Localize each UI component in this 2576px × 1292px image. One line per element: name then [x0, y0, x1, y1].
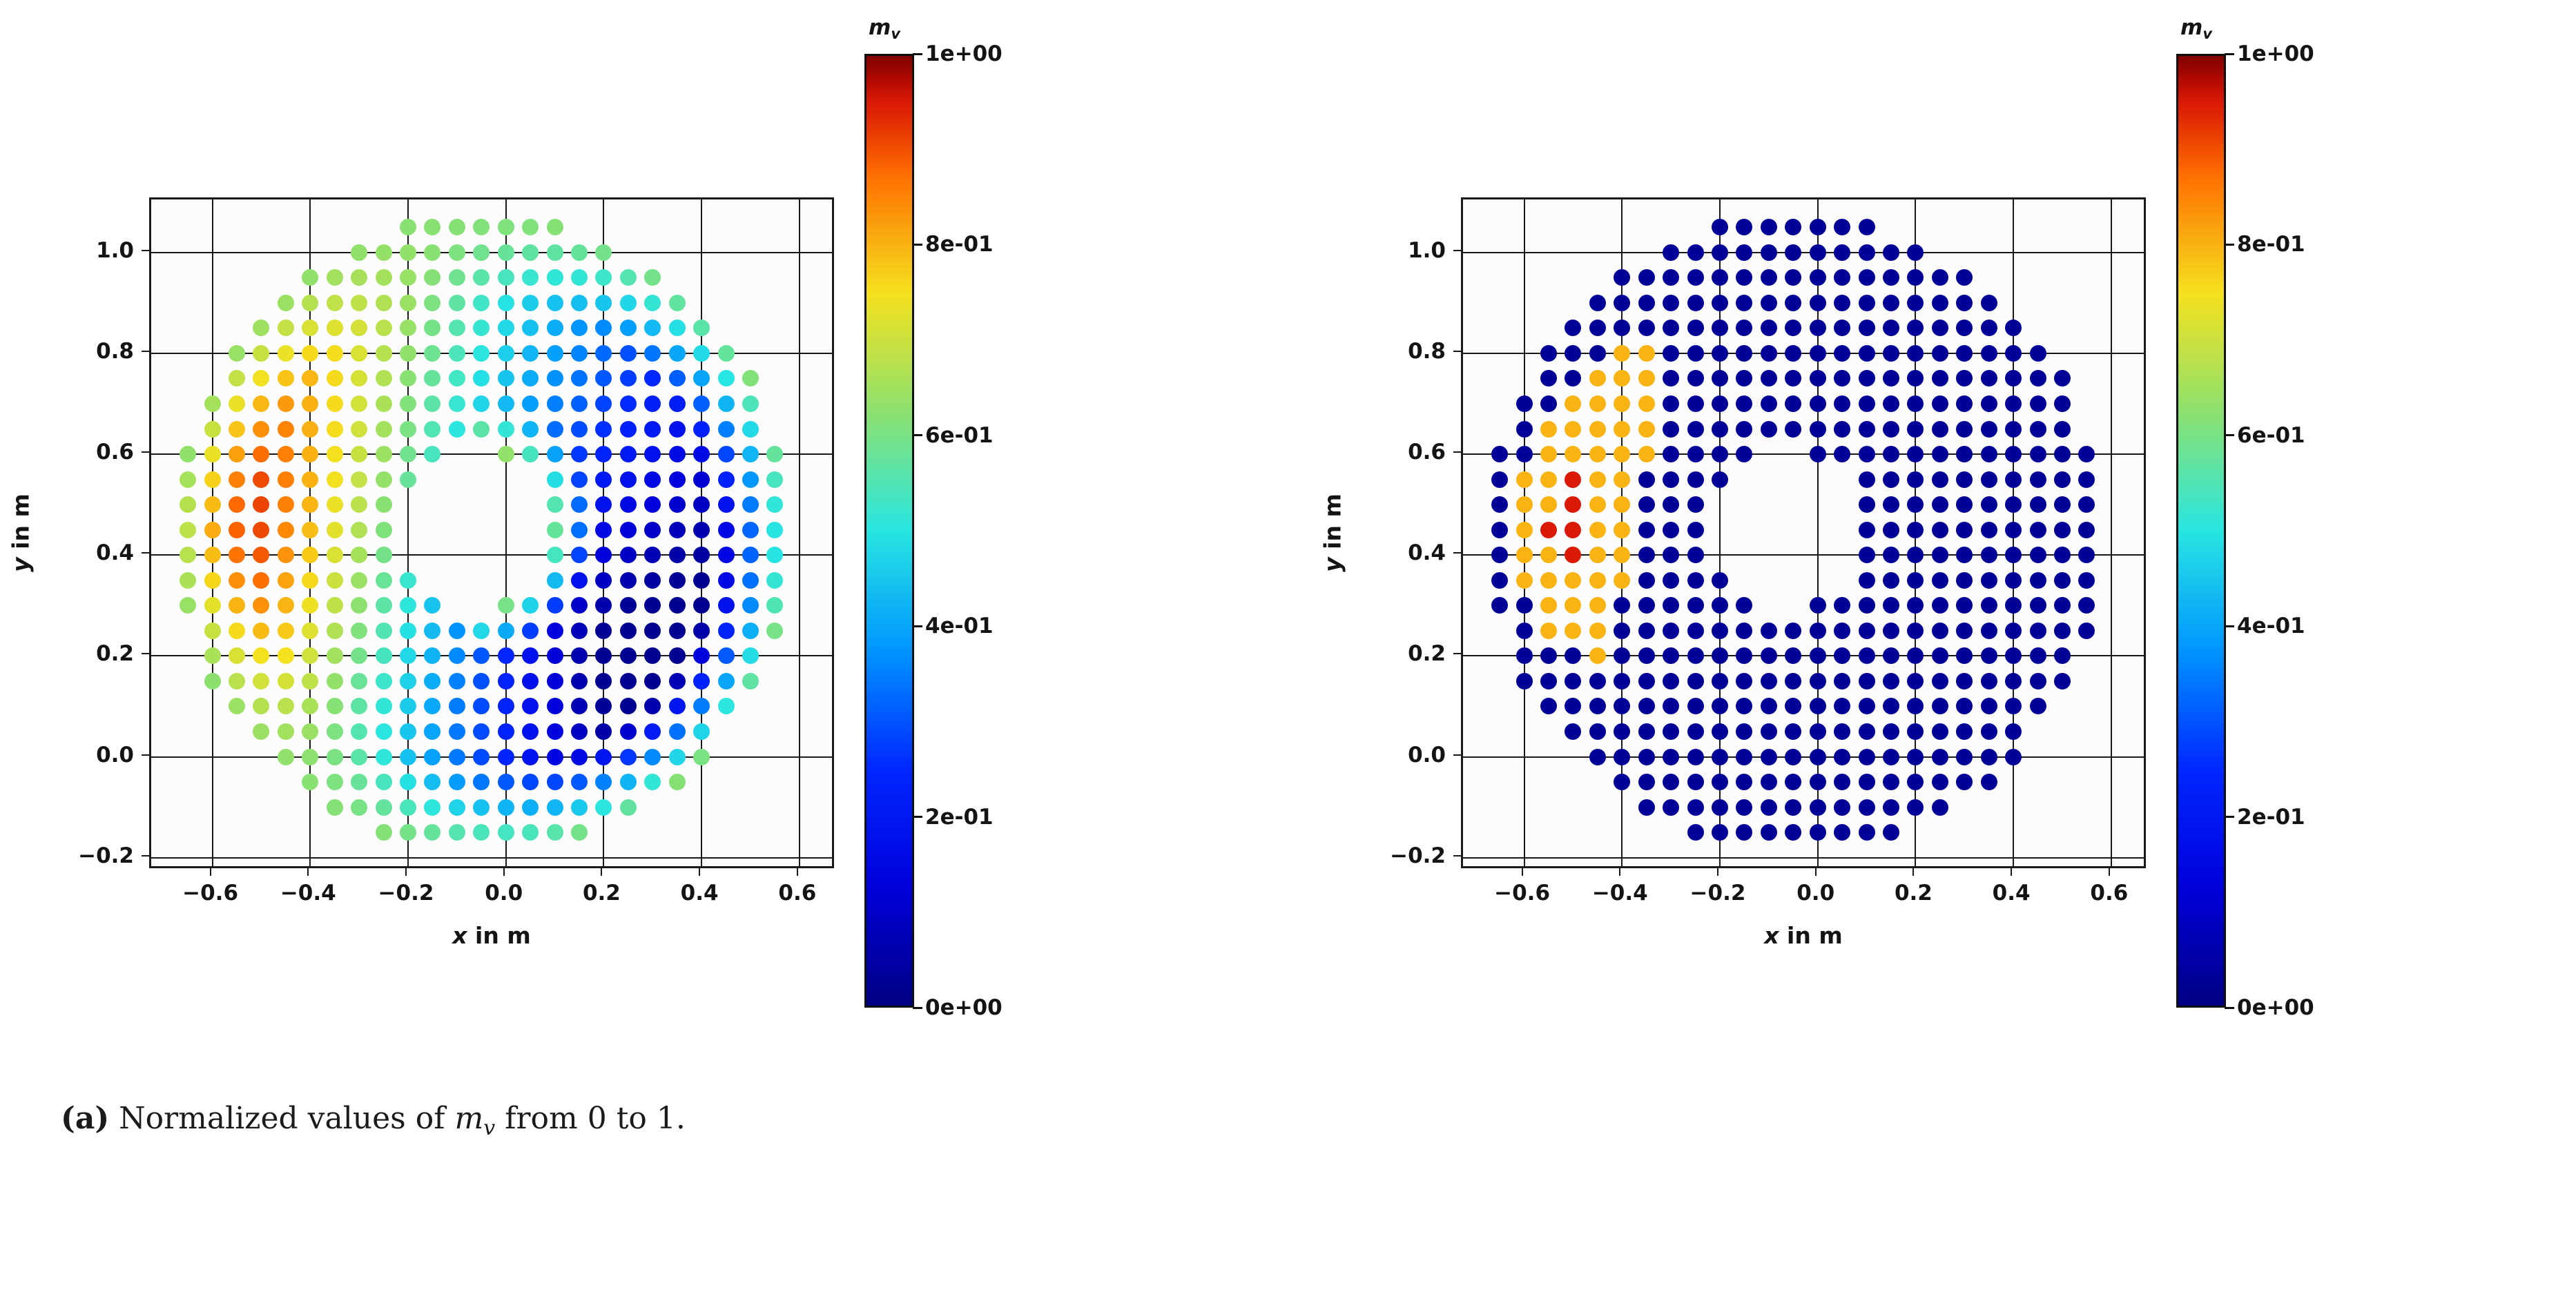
scatter-point [1956, 295, 1973, 311]
scatter-point [376, 496, 392, 513]
scatter-point [571, 774, 588, 790]
scatter-point [1638, 370, 1655, 386]
scatter-point [1687, 597, 1704, 614]
scatter-point [1981, 723, 1997, 740]
colorbar-tick-label: 0e+00 [2237, 995, 2314, 1020]
scatter-point [1981, 370, 1997, 386]
scatter-point [424, 370, 440, 386]
scatter-point [1663, 395, 1679, 412]
scatter-point [1565, 698, 1581, 714]
scatter-point [620, 572, 637, 589]
scatter-point [1736, 774, 1752, 790]
scatter-point [327, 647, 343, 664]
scatter-point [1516, 496, 1533, 513]
scatter-point [595, 698, 612, 714]
scatter-point [2005, 446, 2022, 462]
scatter-point [473, 370, 490, 386]
scatter-point [180, 597, 196, 614]
y-tick-label: 0.6 [1364, 440, 1446, 464]
scatter-point [302, 774, 318, 790]
scatter-point [400, 597, 416, 614]
scatter-point [1712, 370, 1728, 386]
scatter-point [1712, 244, 1728, 261]
scatter-point [1663, 723, 1679, 740]
scatter-point [2030, 597, 2046, 614]
scatter-point [669, 572, 686, 589]
scatter-point [400, 269, 416, 286]
scatter-point [2054, 421, 2071, 438]
scatter-point [1712, 345, 1728, 362]
scatter-point [400, 698, 416, 714]
scatter-point [1614, 295, 1630, 311]
scatter-point [1932, 320, 1948, 336]
scatter-point [400, 824, 416, 841]
scatter-point [693, 623, 710, 639]
scatter-point [1712, 698, 1728, 714]
scatter-point [1810, 446, 1826, 462]
scatter-point [2054, 370, 2071, 386]
scatter-point [400, 647, 416, 664]
scatter-point [1638, 421, 1655, 438]
scatter-point [669, 320, 686, 336]
colorbar-title-main-a: m [869, 15, 891, 40]
scatter-point [644, 421, 661, 438]
scatter-point [2054, 395, 2071, 412]
scatter-point [376, 471, 392, 488]
scatter-point [253, 597, 269, 614]
scatter-point [278, 597, 294, 614]
scatter-point [595, 345, 612, 362]
scatter-point [1663, 345, 1679, 362]
scatter-point [2030, 522, 2046, 538]
scatter-point [229, 395, 245, 412]
scatter-point [1883, 421, 1899, 438]
scatter-point [1883, 673, 1899, 689]
scatter-point [644, 345, 661, 362]
scatter-point [278, 647, 294, 664]
figure-root: −0.6−0.4−0.20.00.20.40.61.00.80.60.40.20… [0, 0, 2576, 1292]
scatter-point [2078, 496, 2095, 513]
scatter-point [1614, 395, 1630, 412]
scatter-point [376, 547, 392, 563]
y-tick-label: 0.8 [1364, 339, 1446, 364]
y-tick-mark [142, 552, 149, 554]
scatter-point [571, 547, 588, 563]
scatter-point [1638, 295, 1655, 311]
scatter-point [253, 647, 269, 664]
scatter-point [1712, 269, 1728, 286]
scatter-point [1956, 572, 1973, 589]
scatter-point [229, 698, 245, 714]
scatter-point [742, 547, 759, 563]
scatter-point [1565, 496, 1581, 513]
scatter-point [1956, 370, 1973, 386]
x-tick-label: 0.0 [1797, 881, 1834, 906]
scatter-point [449, 395, 465, 412]
scatter-point [1687, 471, 1704, 488]
scatter-point [547, 320, 563, 336]
scatter-point [571, 295, 588, 311]
scatter-point [302, 623, 318, 639]
scatter-point [718, 370, 735, 386]
scatter-point [327, 345, 343, 362]
colorbar-tick-mark [2225, 434, 2234, 436]
scatter-point [400, 774, 416, 790]
scatter-point [1834, 597, 1850, 614]
scatter-point [449, 421, 465, 438]
scatter-point [644, 774, 661, 790]
scatter-point [449, 623, 465, 639]
scatter-point [1614, 698, 1630, 714]
scatter-point [498, 269, 514, 286]
scatter-point [302, 647, 318, 664]
scatter-point [449, 774, 465, 790]
scatter-point [1589, 345, 1606, 362]
scatter-point [1956, 345, 1973, 362]
scatter-point [595, 320, 612, 336]
scatter-point [571, 623, 588, 639]
scatter-point [351, 597, 367, 614]
scatter-point [620, 522, 637, 538]
scatter-point [1907, 774, 1924, 790]
scatter-point [1565, 522, 1581, 538]
scatter-point [1859, 572, 1875, 589]
scatter-point [718, 471, 735, 488]
scatter-point [1883, 446, 1899, 462]
scatter-point [1907, 623, 1924, 639]
scatter-point [302, 395, 318, 412]
scatter-point [1932, 421, 1948, 438]
caption-a-math-main: m [455, 1101, 484, 1136]
scatter-point [327, 269, 343, 286]
scatter-point [644, 395, 661, 412]
scatter-point [2078, 446, 2095, 462]
scatter-point [1516, 572, 1533, 589]
scatter-point [1614, 597, 1630, 614]
scatter-point [424, 269, 440, 286]
scatter-point [400, 471, 416, 488]
x-axis-label-b: x in m [1764, 922, 1842, 949]
scatter-point [644, 320, 661, 336]
scatter-point [1761, 219, 1777, 235]
scatter-point [376, 269, 392, 286]
scatter-point [742, 471, 759, 488]
colorbar-tick-label: 6e-01 [925, 423, 994, 448]
scatter-point [180, 522, 196, 538]
scatter-point [742, 496, 759, 513]
scatter-point [693, 749, 710, 765]
scatter-point [2054, 547, 2071, 563]
scatter-point [2030, 395, 2046, 412]
scatter-point [327, 522, 343, 538]
scatter-point [1932, 572, 1948, 589]
scatter-point [180, 572, 196, 589]
colorbar-tick-label: 1e+00 [2237, 41, 2314, 66]
scatter-point [1907, 799, 1924, 816]
scatter-point [1981, 295, 1997, 311]
scatter-point [1956, 723, 1973, 740]
scatter-point [620, 547, 637, 563]
scatter-point [302, 269, 318, 286]
scatter-point [1785, 799, 1801, 816]
scatter-point [2078, 597, 2095, 614]
scatter-point [204, 421, 221, 438]
scatter-point [1810, 673, 1826, 689]
scatter-point [1761, 673, 1777, 689]
scatter-point [351, 295, 367, 311]
scatter-point [595, 421, 612, 438]
scatter-point [302, 572, 318, 589]
scatter-point [327, 320, 343, 336]
scatter-point [2078, 572, 2095, 589]
colorbar-tick-mark [2225, 244, 2234, 246]
y-tick-mark [142, 855, 149, 857]
scatter-point [644, 749, 661, 765]
scatter-point [1859, 496, 1875, 513]
scatter-point [1785, 774, 1801, 790]
scatter-point [1589, 496, 1606, 513]
scatter-point [1565, 723, 1581, 740]
scatter-point [204, 471, 221, 488]
scatter-point [1810, 421, 1826, 438]
scatter-point [1687, 395, 1704, 412]
scatter-point [1687, 799, 1704, 816]
scatter-point [2054, 623, 2071, 639]
scatter-point [2030, 673, 2046, 689]
scatter-point [644, 647, 661, 664]
scatter-point [376, 522, 392, 538]
scatter-point [376, 295, 392, 311]
scatter-point [473, 320, 490, 336]
scatter-point [1712, 471, 1728, 488]
scatter-point [620, 395, 637, 412]
scatter-point [229, 647, 245, 664]
scatter-point [204, 572, 221, 589]
scatter-point [1540, 547, 1557, 563]
scatter-point [2054, 496, 2071, 513]
scatter-point [327, 471, 343, 488]
y-gridline [151, 756, 832, 758]
scatter-point [1883, 522, 1899, 538]
scatter-point [498, 623, 514, 639]
scatter-point [547, 219, 563, 235]
scatter-point [669, 496, 686, 513]
scatter-point [1834, 320, 1850, 336]
scatter-point [1932, 749, 1948, 765]
scatter-point [278, 749, 294, 765]
scatter-point [302, 698, 318, 714]
scatter-point [547, 698, 563, 714]
scatter-point [669, 647, 686, 664]
scatter-point [1859, 799, 1875, 816]
scatter-point [718, 547, 735, 563]
scatter-point [1883, 749, 1899, 765]
scatter-point [1859, 547, 1875, 563]
scatter-point [229, 446, 245, 462]
scatter-point [1565, 547, 1581, 563]
scatter-point [620, 623, 637, 639]
x-tick-label: −0.6 [182, 881, 238, 906]
scatter-point [669, 295, 686, 311]
scatter-point [351, 799, 367, 816]
scatter-point [400, 295, 416, 311]
scatter-point [547, 547, 563, 563]
scatter-point [1761, 244, 1777, 261]
scatter-point [1859, 395, 1875, 412]
scatter-point [742, 395, 759, 412]
x-tick-label: 0.4 [681, 881, 719, 906]
scatter-point [376, 824, 392, 841]
scatter-point [669, 471, 686, 488]
scatter-point [1761, 799, 1777, 816]
scatter-point [1565, 345, 1581, 362]
scatter-point [1491, 597, 1508, 614]
scatter-point [278, 421, 294, 438]
scatter-point [1810, 698, 1826, 714]
scatter-point [1712, 219, 1728, 235]
scatter-point [1981, 623, 1997, 639]
scatter-point [424, 799, 440, 816]
scatter-point [1981, 421, 1997, 438]
scatter-point [742, 623, 759, 639]
scatter-point [1932, 774, 1948, 790]
scatter-point [571, 572, 588, 589]
scatter-point [327, 698, 343, 714]
scatter-point [1981, 345, 1997, 362]
scatter-point [1614, 471, 1630, 488]
colorbar-tick-mark [913, 1007, 922, 1009]
caption-a: (a) Normalized values of mv from 0 to 1. [61, 1096, 751, 1144]
scatter-point [1859, 522, 1875, 538]
scatter-point [1810, 269, 1826, 286]
scatter-point [1516, 673, 1533, 689]
x-tick-label: 0.2 [1895, 881, 1933, 906]
scatter-point [644, 698, 661, 714]
scatter-point [1956, 471, 1973, 488]
scatter-point [424, 774, 440, 790]
scatter-point [1712, 395, 1728, 412]
scatter-point [204, 446, 221, 462]
scatter-point [327, 723, 343, 740]
scatter-point [180, 446, 196, 462]
scatter-point [1516, 522, 1533, 538]
scatter-point [547, 269, 563, 286]
scatter-point [1859, 774, 1875, 790]
y-tick-mark [142, 653, 149, 654]
scatter-point [547, 345, 563, 362]
scatter-point [1516, 597, 1533, 614]
scatter-point [1687, 824, 1704, 841]
scatter-point [351, 446, 367, 462]
scatter-point [1663, 320, 1679, 336]
scatter-point [547, 623, 563, 639]
scatter-point [547, 824, 563, 841]
scatter-point [400, 219, 416, 235]
scatter-point [522, 824, 539, 841]
scatter-point [1834, 370, 1850, 386]
scatter-point [253, 320, 269, 336]
y-tick-label: −0.2 [52, 843, 134, 868]
scatter-point [253, 446, 269, 462]
scatter-point [669, 723, 686, 740]
scatter-point [547, 749, 563, 765]
scatter-point [1589, 522, 1606, 538]
scatter-point [669, 698, 686, 714]
scatter-point [376, 774, 392, 790]
scatter-point [229, 572, 245, 589]
scatter-point [302, 723, 318, 740]
scatter-point [1614, 320, 1630, 336]
scatter-point [376, 370, 392, 386]
scatter-point [547, 446, 563, 462]
scatter-point [1932, 547, 1948, 563]
scatter-point [1614, 749, 1630, 765]
scatter-point [327, 547, 343, 563]
scatter-point [1589, 370, 1606, 386]
scatter-point [2005, 421, 2022, 438]
scatter-point [1565, 370, 1581, 386]
scatter-point [644, 295, 661, 311]
y-tick-mark [1453, 653, 1461, 654]
scatter-point [595, 496, 612, 513]
scatter-point [595, 597, 612, 614]
scatter-point [400, 623, 416, 639]
scatter-point [1712, 749, 1728, 765]
scatter-point [1638, 723, 1655, 740]
scatter-point [424, 723, 440, 740]
scatter-point [1859, 471, 1875, 488]
y-gridline [1463, 252, 2144, 253]
scatter-point [351, 320, 367, 336]
scatter-point [693, 522, 710, 538]
scatter-point [1834, 421, 1850, 438]
scatter-point [1932, 673, 1948, 689]
scatter-point [718, 522, 735, 538]
y-axis-label-b: y in m [1319, 493, 1346, 572]
scatter-point [1565, 597, 1581, 614]
y-tick-label: 0.0 [1364, 743, 1446, 767]
scatter-point [595, 749, 612, 765]
x-tick-label: −0.4 [1592, 881, 1648, 906]
scatter-point [2030, 345, 2046, 362]
scatter-point [547, 522, 563, 538]
scatter-point [1736, 749, 1752, 765]
scatter-point [693, 597, 710, 614]
scatter-point [253, 723, 269, 740]
scatter-point [424, 320, 440, 336]
scatter-point [1956, 597, 1973, 614]
scatter-point [1907, 244, 1924, 261]
scatter-point [376, 647, 392, 664]
scatter-point [1565, 395, 1581, 412]
scatter-point [693, 320, 710, 336]
scatter-point [1981, 673, 1997, 689]
scatter-point [1883, 345, 1899, 362]
scatter-point [1663, 774, 1679, 790]
scatter-point [1859, 269, 1875, 286]
scatter-point [1736, 673, 1752, 689]
scatter-point [180, 547, 196, 563]
scatter-point [1785, 749, 1801, 765]
scatter-point [1663, 597, 1679, 614]
scatter-point [1491, 547, 1508, 563]
colorbar-title-sub-b: v [2202, 26, 2212, 42]
scatter-point [1736, 345, 1752, 362]
scatter-point [1687, 698, 1704, 714]
scatter-point [327, 799, 343, 816]
scatter-point [1761, 774, 1777, 790]
scatter-point [2005, 496, 2022, 513]
